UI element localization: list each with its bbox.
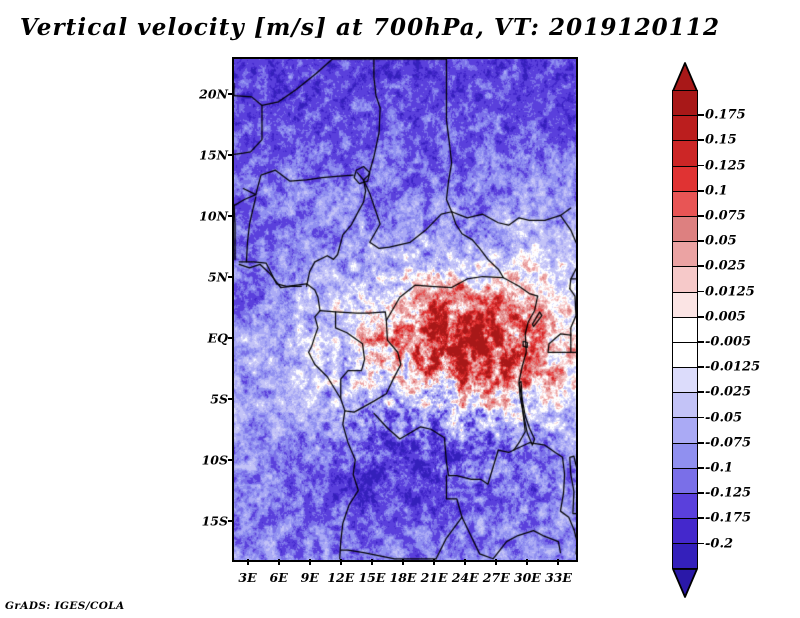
colorbar-band: [672, 115, 698, 140]
x-tick-label: 27E: [483, 570, 510, 585]
x-tick-mark: [371, 559, 373, 565]
colorbar-band: [672, 317, 698, 342]
x-tick-label: 24E: [452, 570, 479, 585]
y-tick-mark: [228, 215, 234, 217]
x-tick-mark: [557, 559, 559, 565]
colorbar-band: [672, 266, 698, 291]
colorbar-tick: [698, 240, 704, 242]
x-tick-mark: [278, 559, 280, 565]
y-tick-mark: [228, 398, 234, 400]
x-tick-mark: [526, 559, 528, 565]
colorbar-label: 0.15: [705, 133, 737, 148]
colorbar-tick: [698, 517, 704, 519]
x-tick-mark: [340, 559, 342, 565]
colorbar-band: [672, 543, 698, 568]
colorbar-tick: [698, 467, 704, 469]
colorbar-tick: [698, 316, 704, 318]
y-tick-label: 10S: [202, 453, 228, 468]
colorbar-label: 0.005: [705, 309, 746, 324]
colorbar-band: [672, 367, 698, 392]
colorbar-band: [672, 392, 698, 417]
y-tick-label: 15N: [199, 147, 228, 162]
colorbar-label: 0.1: [705, 183, 728, 198]
colorbar-tick: [698, 165, 704, 167]
x-tick-label: 12E: [327, 570, 354, 585]
colorbar-band: [672, 90, 698, 115]
colorbar-tick: [698, 417, 704, 419]
colorbar: 0.1750.150.1250.10.0750.050.0250.01250.0…: [672, 62, 792, 560]
y-tick-mark: [228, 520, 234, 522]
x-tick-mark: [309, 559, 311, 565]
colorbar-label: -0.075: [705, 435, 751, 450]
x-tick-label: 30E: [514, 570, 541, 585]
colorbar-label: -0.025: [705, 385, 751, 400]
colorbar-label: -0.125: [705, 486, 751, 501]
x-tick-mark: [433, 559, 435, 565]
x-tick-label: 9E: [301, 570, 319, 585]
x-tick-mark: [495, 559, 497, 565]
colorbar-band: [672, 342, 698, 367]
map-plot-area: [232, 57, 578, 562]
colorbar-label: -0.05: [705, 410, 742, 425]
colorbar-label: -0.175: [705, 511, 751, 526]
x-tick-mark: [464, 559, 466, 565]
colorbar-band: [672, 216, 698, 241]
colorbar-label: 0.0125: [705, 284, 755, 299]
colorbar-tick: [698, 291, 704, 293]
y-tick-mark: [228, 337, 234, 339]
colorbar-tick: [698, 366, 704, 368]
footer-credit: GrADS: IGES/COLA: [5, 600, 125, 612]
colorbar-band: [672, 518, 698, 543]
colorbar-label: 0.175: [705, 108, 746, 123]
colorbar-band: [672, 443, 698, 468]
colorbar-label: -0.0125: [705, 360, 760, 375]
colorbar-label: 0.125: [705, 158, 746, 173]
y-axis-latitude: 20N15N10N5NEQ5S10S15S: [176, 57, 228, 562]
country-borders-overlay: [234, 59, 576, 560]
y-tick-label: 20N: [199, 86, 228, 101]
y-tick-label: 5N: [208, 269, 228, 284]
colorbar-tick: [698, 139, 704, 141]
colorbar-tick: [698, 391, 704, 393]
colorbar-label: 0.025: [705, 259, 746, 274]
colorbar-tick: [698, 190, 704, 192]
colorbar-over-arrow-icon: [672, 62, 698, 92]
x-tick-label: 6E: [270, 570, 288, 585]
colorbar-label: 0.05: [705, 234, 737, 249]
colorbar-band: [672, 241, 698, 266]
colorbar-band: [672, 140, 698, 165]
y-tick-mark: [228, 459, 234, 461]
colorbar-band: [672, 292, 698, 317]
colorbar-band: [672, 493, 698, 518]
y-tick-mark: [228, 276, 234, 278]
colorbar-tick: [698, 114, 704, 116]
x-tick-label: 33E: [545, 570, 572, 585]
y-tick-mark: [228, 154, 234, 156]
colorbar-band: [672, 417, 698, 442]
x-tick-mark: [402, 559, 404, 565]
colorbar-band: [672, 468, 698, 493]
colorbar-tick: [698, 442, 704, 444]
y-tick-label: 15S: [202, 514, 228, 529]
colorbar-label: -0.2: [705, 536, 733, 551]
x-tick-label: 18E: [390, 570, 417, 585]
colorbar-tick: [698, 492, 704, 494]
colorbar-tick: [698, 265, 704, 267]
y-tick-label: 10N: [199, 208, 228, 223]
y-tick-label: EQ: [208, 331, 228, 346]
x-tick-label: 3E: [238, 570, 256, 585]
colorbar-band: [672, 166, 698, 191]
x-tick-label: 15E: [358, 570, 385, 585]
colorbar-under-arrow-icon: [672, 568, 698, 598]
page-title: Vertical velocity [m/s] at 700hPa, VT: 2…: [0, 14, 740, 41]
colorbar-label: -0.005: [705, 335, 751, 350]
colorbar-band: [672, 191, 698, 216]
y-tick-label: 5S: [210, 392, 228, 407]
x-tick-mark: [247, 559, 249, 565]
colorbar-label: 0.075: [705, 209, 746, 224]
colorbar-label: -0.1: [705, 461, 733, 476]
x-axis-longitude: 3E6E9E12E15E18E21E24E27E30E33E: [232, 566, 578, 588]
colorbar-tick: [698, 341, 704, 343]
x-tick-label: 21E: [421, 570, 448, 585]
colorbar-tick: [698, 543, 704, 545]
y-tick-mark: [228, 93, 234, 95]
colorbar-tick: [698, 215, 704, 217]
